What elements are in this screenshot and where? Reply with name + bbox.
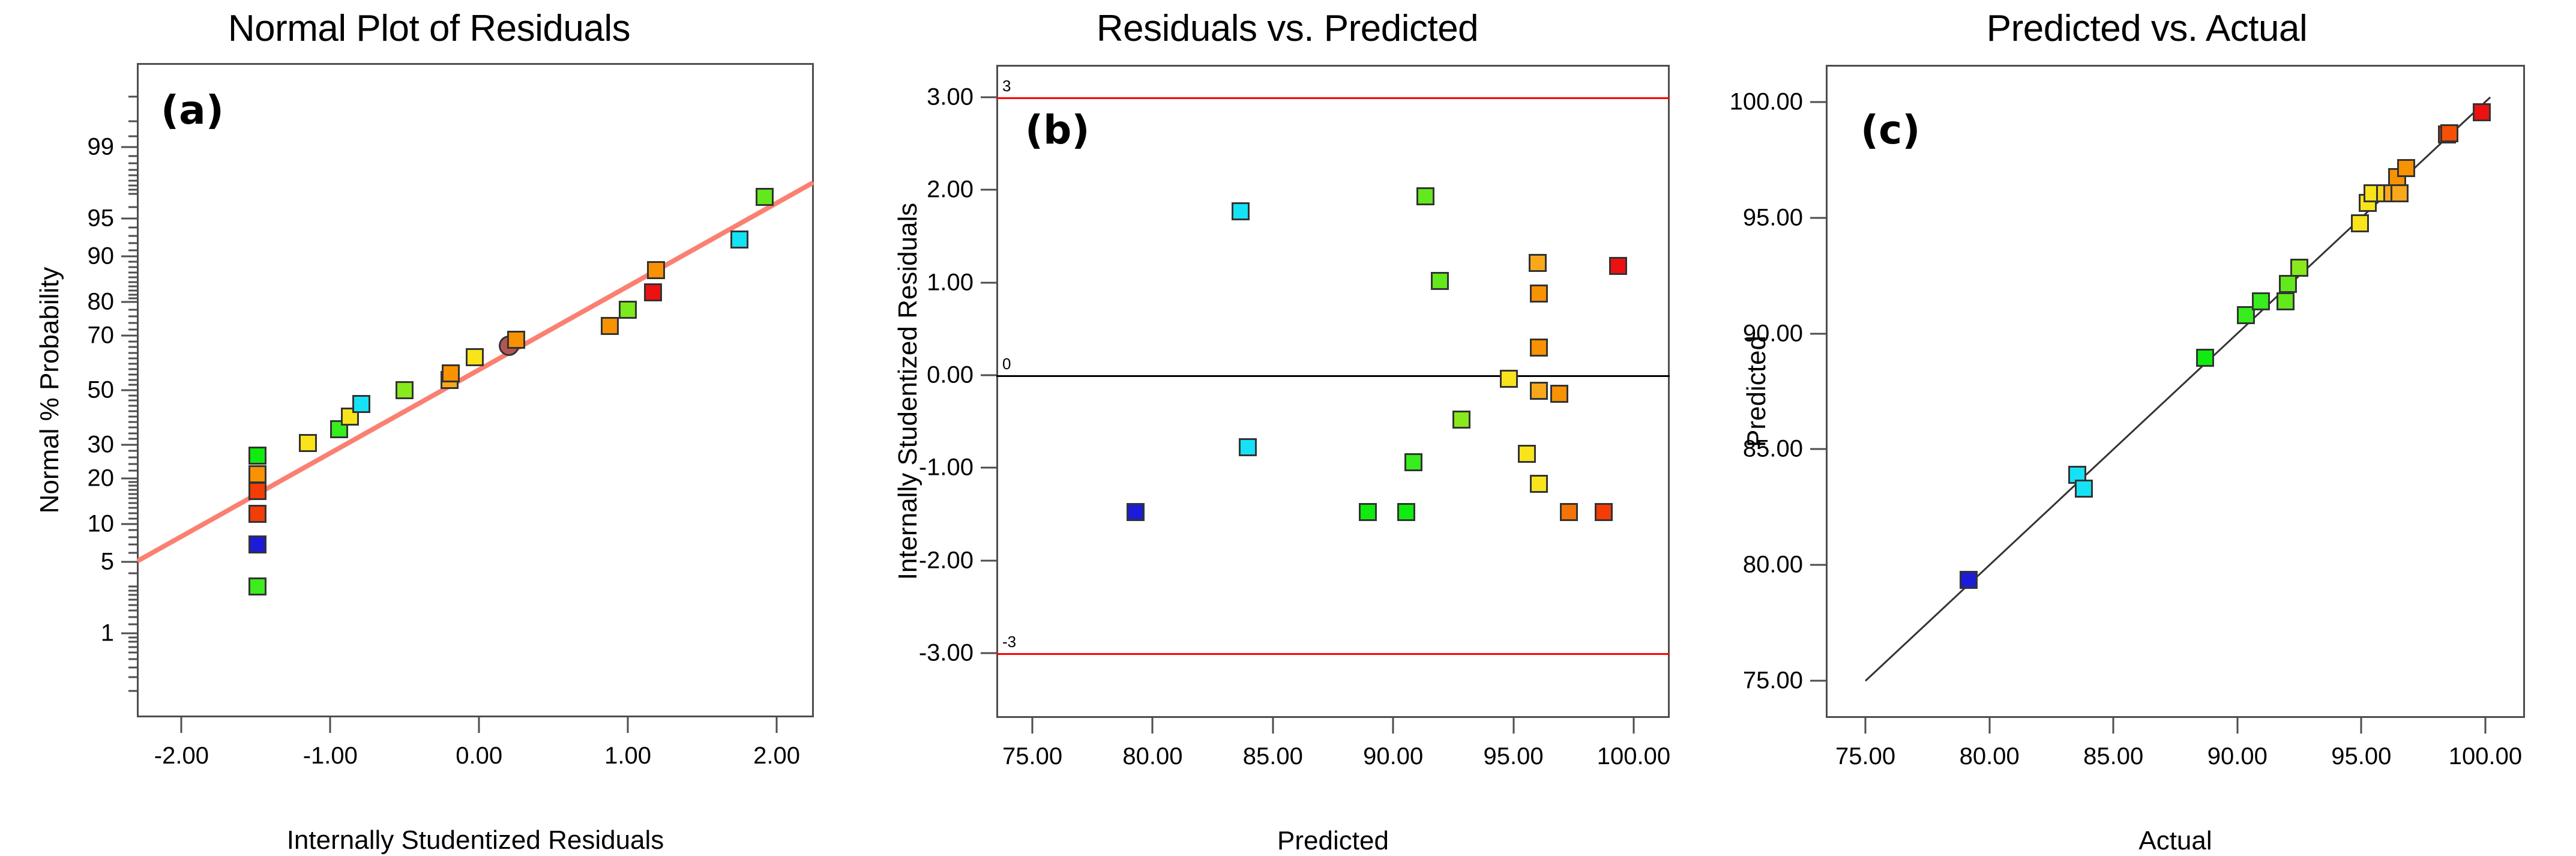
panel-a-data-point: [248, 447, 266, 465]
panel-c-x-tick-label: 100.00: [2449, 743, 2522, 770]
panel-a-y-minor-tick: [128, 507, 137, 509]
panel-a-y-minor-tick: [128, 276, 137, 278]
panel-a-y-minor-tick: [128, 180, 137, 182]
panel-a-data-point: [352, 395, 370, 413]
panel-b-plot-frame: [996, 65, 1670, 718]
panel-a-y-minor-tick: [128, 421, 137, 423]
panel-a-x-tick-label: -1.00: [303, 743, 358, 770]
panel-a-data-point: [730, 231, 748, 249]
panel-a-y-minor-tick: [128, 294, 137, 295]
panel-a-x-tick-label: 1.00: [604, 743, 651, 770]
panel-a-y-minor-tick: [128, 96, 137, 98]
panel-b-x-tick-label: 85.00: [1243, 743, 1303, 770]
panel-c-plot-frame: [1826, 65, 2525, 718]
panel-c-x-tick-label: 90.00: [2207, 743, 2268, 770]
panel-a-y-minor-tick: [128, 155, 137, 157]
panel-a-y-minor-tick: [128, 193, 137, 194]
panel-a-x-tick: [776, 717, 778, 733]
panel-b-x-tick-label: 100.00: [1597, 743, 1670, 770]
panel-a-y-minor-tick: [128, 394, 137, 396]
panel-a-x-axis-title: Internally Studentized Residuals: [287, 825, 664, 855]
panel-b-data-point: [1127, 503, 1145, 521]
panel-a-y-axis-title: Normal % Probability: [35, 267, 65, 514]
panel-a-y-minor-tick: [128, 357, 137, 359]
panel-a-y-minor-tick: [128, 352, 137, 354]
panel-b-x-tick: [1512, 718, 1514, 734]
panel-a-x-tick: [627, 717, 629, 733]
panel-a-y-minor-tick: [128, 512, 137, 514]
panel-a-y-tick-label: 70: [88, 322, 115, 349]
panel-c-x-tick-label: 95.00: [2331, 743, 2391, 770]
panel-b-reference-line-tag: -3: [1002, 633, 1016, 651]
panel-a-y-minor-tick: [128, 552, 137, 553]
panel-b-x-tick-label: 95.00: [1483, 743, 1543, 770]
panel-b-reference-line-tag: 3: [1002, 77, 1011, 95]
panel-b-data-point: [1232, 202, 1250, 220]
panel-b-y-tick-label: 0.00: [927, 361, 974, 388]
panel-a-x-tick: [181, 717, 182, 733]
panel-a-y-minor-tick: [128, 400, 137, 402]
panel-a-y-minor-tick: [128, 384, 137, 386]
panel-a-y-minor-tick: [128, 666, 137, 668]
panel-b-data-point: [1530, 475, 1548, 493]
panel-a-y-minor-tick: [128, 309, 137, 310]
panel-a-data-point: [756, 188, 774, 206]
panel-b-data-point: [1518, 445, 1536, 463]
panel-a-data-point: [601, 317, 619, 335]
panel-b-data-point: [1452, 411, 1470, 429]
panel-a-y-minor-tick: [128, 646, 137, 648]
panel-a-y-minor-tick: [128, 146, 137, 148]
panel-a-y-minor-tick: [128, 249, 137, 251]
panel-b-data-point: [1560, 503, 1578, 521]
panel-a-x-tick-label: 2.00: [753, 743, 800, 770]
panel-a-x-tick: [478, 717, 480, 733]
panel-a-y-minor-tick: [128, 363, 137, 364]
panel-a-data-point: [644, 283, 662, 301]
panel-b-y-tick: [981, 374, 996, 376]
panel-a-y-minor-tick: [128, 169, 137, 170]
panel-c-y-tick-label: 75.00: [1743, 668, 1803, 695]
panel-a-y-minor-tick: [128, 543, 137, 545]
panel-b-x-tick: [1272, 718, 1274, 734]
panel-c-x-tick-label: 80.00: [1960, 743, 2020, 770]
panel-a-y-minor-tick: [128, 227, 137, 229]
panel-b-x-tick-label: 75.00: [1002, 743, 1062, 770]
panel-b-title: Residuals vs. Predicted: [858, 7, 1717, 50]
panel-c-title: Predicted vs. Actual: [1718, 7, 2576, 50]
panel-b-data-point: [1530, 339, 1548, 357]
panel-b-data-point: [1239, 438, 1257, 456]
panel-b-x-tick: [1392, 718, 1394, 734]
panel-a-data-point: [396, 381, 414, 399]
panel-a-y-tick-label: 50: [88, 377, 115, 404]
panel-a-y-minor-tick: [128, 298, 137, 300]
panel-b-x-tick: [1032, 718, 1034, 734]
panel-a-y-minor-tick: [128, 175, 137, 176]
panel-a-y-minor-tick: [128, 489, 137, 491]
panel-a-y-minor-tick: [128, 340, 137, 342]
panel-a-y-minor-tick: [128, 586, 137, 588]
panel-b-y-tick-label: -3.00: [919, 639, 974, 666]
panel-a-y-minor-tick: [128, 517, 137, 519]
panel-c-y-tick-label: 80.00: [1743, 552, 1803, 579]
panel-a-x-tick-label: 0.00: [456, 743, 502, 770]
panel-a-data-point: [248, 465, 266, 483]
panel-a-data-point: [248, 577, 266, 595]
panel-a-y-minor-tick: [128, 416, 137, 418]
panel-c-x-tick: [2361, 718, 2362, 734]
panel-b-y-tick-label: 3.00: [927, 84, 974, 111]
panel-a-y-minor-tick: [128, 184, 137, 186]
panel-a-y-minor-tick: [128, 502, 137, 504]
panel-c-y-tick: [1810, 333, 1826, 334]
panel-a-y-minor-tick: [128, 477, 137, 479]
panel-a-data-point: [248, 482, 266, 500]
panel-a-y-minor-tick: [128, 470, 137, 472]
panel-a-y-minor-tick: [128, 641, 137, 643]
panel-a-y-tick-label: 90: [88, 243, 115, 270]
panel-b-y-tick: [981, 652, 996, 654]
panel-a-y-minor-tick: [128, 405, 137, 407]
panel-a-data-point: [647, 261, 665, 279]
panel-a-y-minor-tick: [128, 379, 137, 381]
panel-b-y-tick-label: 2.00: [927, 176, 974, 203]
panel-c-y-tick: [1810, 217, 1826, 219]
panel-a-y-minor-tick: [128, 529, 137, 531]
panel-a-y-minor-tick: [128, 235, 137, 237]
residual-diagnostics-figure: Normal Plot of Residuals (a) 99959080705…: [0, 0, 2576, 852]
panel-a-plot-frame: [137, 63, 814, 717]
panel-b-reference-line: [996, 653, 1670, 655]
panel-a-y-minor-tick: [128, 281, 137, 283]
panel-a-y-minor-tick: [128, 624, 137, 625]
panel-a-data-point: [466, 348, 484, 366]
panel-c-y-tick-label: 100.00: [1730, 88, 1803, 115]
panel-a-y-minor-tick: [128, 438, 137, 440]
panel-a-data-point: [507, 331, 525, 349]
panel-b-data-point: [1530, 285, 1548, 303]
panel-b-data-point: [1609, 257, 1627, 275]
panel-a-y-minor-tick: [128, 368, 137, 370]
panel-a-y-minor-tick: [128, 652, 137, 654]
panel-b-reference-line: [996, 97, 1670, 99]
panel-a-y-minor-tick: [128, 604, 137, 606]
panel-b-y-tick-label: -2.00: [919, 547, 974, 574]
panel-c-data-point: [2277, 292, 2295, 310]
panel-a-y-minor-tick: [128, 690, 137, 692]
panel-b-data-point: [1500, 370, 1518, 388]
panel-a-y-minor-tick: [128, 243, 137, 244]
panel-a-y-minor-tick: [128, 427, 137, 429]
panel-a-data-point: [248, 535, 266, 553]
panel-c-data-point: [2440, 124, 2458, 142]
panel-c-data-point: [2351, 214, 2369, 232]
panel-a-y-minor-tick: [128, 561, 137, 563]
panel-c-x-tick-label: 75.00: [1835, 743, 1895, 770]
panel-b-data-point: [1397, 503, 1415, 521]
panel-a-title: Normal Plot of Residuals: [0, 7, 858, 50]
panel-a-y-minor-tick: [128, 598, 137, 600]
panel-c-label: (c): [1861, 107, 1920, 153]
panel-a-y-minor-tick: [128, 328, 137, 330]
panel-a-y-tick-label: 5: [101, 549, 114, 576]
panel-a-x-tick-label: -2.00: [154, 743, 209, 770]
panel-a-y-minor-tick: [128, 163, 137, 164]
panel-predicted-vs-actual: Predicted vs. Actual (c) 75.0080.0085.00…: [1718, 0, 2576, 852]
panel-b-data-point: [1359, 503, 1377, 521]
panel-a-y-minor-tick: [128, 493, 137, 495]
panel-a-y-minor-tick: [128, 206, 137, 208]
panel-b-y-tick-label: 1.00: [927, 269, 974, 296]
panel-a-y-minor-tick: [128, 261, 137, 263]
panel-b-reference-line: [996, 375, 1670, 377]
panel-c-data-point: [2279, 275, 2297, 293]
panel-b-data-point: [1595, 503, 1613, 521]
panel-a-y-minor-tick: [128, 485, 137, 487]
panel-b-data-point: [1529, 254, 1547, 272]
panel-c-x-tick: [2484, 718, 2486, 734]
panel-a-y-minor-tick: [128, 523, 137, 525]
panel-b-data-point: [1431, 272, 1449, 290]
panel-a-y-minor-tick: [128, 610, 137, 612]
panel-b-reference-line-tag: 0: [1002, 355, 1011, 373]
panel-c-y-tick: [1810, 101, 1826, 103]
panel-c-y-tick: [1810, 680, 1826, 682]
panel-a-y-minor-tick: [128, 411, 137, 412]
panel-a-data-point: [248, 505, 266, 523]
panel-residuals-vs-predicted: Residuals vs. Predicted (b) 30-3 3.002.0…: [858, 0, 1717, 852]
panel-a-y-minor-tick: [128, 590, 137, 592]
panel-a-y-minor-tick: [128, 536, 137, 538]
panel-a-y-minor-tick: [128, 616, 137, 618]
panel-a-y-minor-tick: [128, 677, 137, 678]
panel-c-data-point: [2075, 480, 2093, 498]
panel-c-y-axis-title: Predicted: [1742, 336, 1772, 447]
panel-c-y-tick: [1810, 448, 1826, 450]
panel-a-y-minor-tick: [128, 120, 137, 122]
panel-c-x-tick-label: 85.00: [2083, 743, 2143, 770]
panel-a-y-minor-tick: [128, 255, 137, 257]
panel-a-y-tick-label: 1: [101, 620, 114, 647]
panel-c-data-point: [2290, 259, 2308, 277]
panel-c-data-point: [2196, 349, 2214, 367]
panel-b-data-point: [1404, 453, 1422, 471]
panel-a-y-minor-tick: [128, 135, 137, 137]
panel-a-y-minor-tick: [128, 316, 137, 318]
panel-a-y-minor-tick: [128, 267, 137, 268]
panel-b-data-point: [1416, 187, 1434, 205]
panel-a-y-minor-tick: [128, 334, 137, 336]
panel-a-y-minor-tick: [128, 450, 137, 452]
panel-c-x-tick: [1988, 718, 1990, 734]
panel-a-y-tick-label: 20: [88, 465, 115, 492]
panel-c-x-tick: [2113, 718, 2114, 734]
panel-a-y-minor-tick: [128, 373, 137, 375]
panel-a-y-minor-tick: [128, 217, 137, 219]
panel-b-x-tick-label: 80.00: [1122, 743, 1182, 770]
panel-c-y-tick: [1810, 564, 1826, 566]
panel-a-y-minor-tick: [128, 444, 137, 446]
panel-b-data-point: [1530, 382, 1548, 400]
panel-b-x-tick: [1633, 718, 1634, 734]
panel-a-y-minor-tick: [128, 301, 137, 303]
panel-a-y-minor-tick: [128, 322, 137, 324]
panel-b-y-tick: [981, 189, 996, 191]
panel-b-y-tick: [981, 559, 996, 561]
panel-c-data-point: [2252, 292, 2270, 310]
panel-c-data-point: [2397, 159, 2415, 177]
panel-normal-plot-of-residuals: Normal Plot of Residuals (a) 99959080705…: [0, 0, 858, 852]
panel-a-y-minor-tick: [128, 346, 137, 348]
panel-b-y-tick: [981, 97, 996, 98]
panel-a-y-minor-tick: [128, 636, 137, 638]
panel-b-data-point: [1550, 385, 1568, 403]
panel-a-y-tick-label: 30: [88, 432, 115, 459]
panel-c-data-point: [2391, 184, 2409, 202]
panel-b-x-tick: [1152, 718, 1154, 734]
panel-a-label: (a): [161, 87, 224, 133]
panel-c-data-point: [2473, 103, 2491, 121]
panel-a-data-point: [619, 301, 637, 319]
panel-a-y-minor-tick: [128, 498, 137, 499]
panel-c-x-tick: [2236, 718, 2238, 734]
panel-a-y-tick-label: 80: [88, 289, 115, 316]
panel-a-y-minor-tick: [128, 271, 137, 273]
panel-c-y-tick-label: 95.00: [1743, 204, 1803, 231]
panel-a-data-point: [299, 434, 317, 452]
panel-c-x-tick: [1865, 718, 1867, 734]
panel-c-data-point: [1960, 571, 1978, 589]
panel-a-y-minor-tick: [128, 594, 137, 596]
panel-a-y-tick-label: 10: [88, 511, 115, 538]
panel-a-x-tick: [330, 717, 331, 733]
panel-a-y-minor-tick: [128, 659, 137, 660]
panel-a-y-minor-tick: [128, 289, 137, 291]
panel-b-y-tick: [981, 282, 996, 283]
panel-b-y-tick: [981, 467, 996, 469]
panel-a-y-minor-tick: [128, 481, 137, 483]
panel-a-y-minor-tick: [128, 633, 137, 634]
panel-a-y-minor-tick: [128, 457, 137, 459]
panel-a-y-minor-tick: [128, 188, 137, 190]
panel-a-y-tick-label: 95: [88, 205, 115, 232]
panel-b-label: (b): [1025, 107, 1090, 153]
panel-a-y-minor-tick: [128, 285, 137, 287]
panel-b-y-axis-title: Internally Studentized Residuals: [893, 203, 923, 580]
panel-a-y-minor-tick: [128, 432, 137, 434]
panel-a-y-minor-tick: [128, 463, 137, 465]
panel-a-y-minor-tick: [128, 572, 137, 574]
panel-a-y-minor-tick: [128, 390, 137, 391]
panel-b-y-tick-label: -1.00: [919, 454, 974, 481]
panel-b-x-tick-label: 90.00: [1363, 743, 1423, 770]
panel-a-y-tick-label: 99: [88, 134, 115, 161]
panel-a-data-point: [442, 364, 460, 382]
